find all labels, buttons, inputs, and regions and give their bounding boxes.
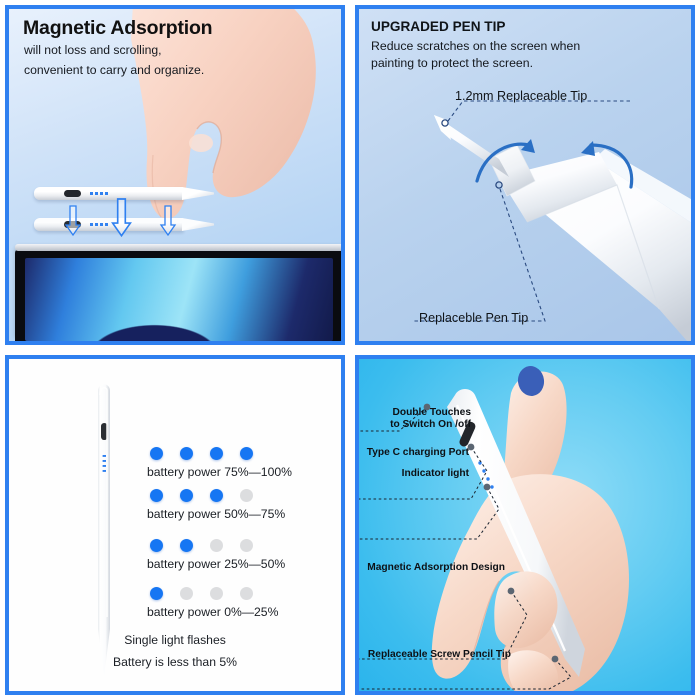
footer-line-2: Battery is less than 5% <box>9 655 341 669</box>
led-dot-group <box>147 587 278 600</box>
led-dot-icon <box>240 587 253 600</box>
led-dot-icon <box>150 447 163 460</box>
feature-label-double-touches-line-1: Double Touches <box>393 407 472 418</box>
led-dot-icon <box>210 489 223 502</box>
led-dot-icon <box>150 539 163 552</box>
led-dot-icon <box>180 447 193 460</box>
feature-label-type-c-port: Type C charging Port <box>359 447 469 459</box>
panel-magnetic-adsorption: Magnetic Adsorption will not loss and sc… <box>5 5 345 345</box>
panel-subtitle-line-2: painting to protect the screen. <box>371 56 533 70</box>
led-dot-icon <box>210 539 223 552</box>
led-dot-icon <box>180 489 193 502</box>
led-dot-icon <box>210 587 223 600</box>
battery-level-row: battery power 75%—100% <box>147 447 292 479</box>
led-dot-group <box>147 489 285 502</box>
panel-subtitle-line-2: convenient to carry and organize. <box>24 63 204 77</box>
battery-level-label: battery power 25%—50% <box>147 557 285 571</box>
feature-label-indicator-light: Indicator light <box>367 468 469 480</box>
down-arrow-icon <box>112 199 131 237</box>
stylus-pen-icon <box>91 377 117 677</box>
product-infographic: Magnetic Adsorption will not loss and sc… <box>0 0 700 700</box>
led-indicator-icon <box>90 192 108 195</box>
panel-title: Magnetic Adsorption <box>23 17 212 40</box>
led-dot-icon <box>240 489 253 502</box>
callout-replaceable-tip: 1.2mm Replaceable Tip <box>455 89 587 103</box>
footer-line-1: Single light flashes <box>9 633 341 647</box>
led-dot-icon <box>150 587 163 600</box>
panel-title: UPGRADED PEN TIP <box>371 19 505 34</box>
led-dot-icon <box>210 447 223 460</box>
led-dot-icon <box>180 539 193 552</box>
battery-level-row: battery power 25%—50% <box>147 539 285 571</box>
tablet-edge <box>15 244 343 251</box>
led-dot-icon <box>150 489 163 502</box>
down-arrow-icon <box>66 206 80 236</box>
usb-c-port-icon <box>64 190 81 197</box>
led-dot-icon <box>180 587 193 600</box>
stylus-pen-icon <box>34 187 184 200</box>
led-indicator-icon <box>90 223 108 226</box>
down-arrow-icon <box>161 206 175 236</box>
feature-label-magnetic-adsorption-design: Magnetic Adsorption Design <box>359 562 505 574</box>
battery-level-label: battery power 75%—100% <box>147 465 292 479</box>
battery-level-row: battery power 0%—25% <box>147 587 278 619</box>
battery-level-row: battery power 50%—75% <box>147 489 285 521</box>
feature-label-replaceable-screw-pencil-tip: Replaceable Screw Pencil Tip <box>359 649 511 661</box>
panel-battery-indicator: battery power 75%—100%battery power 50%—… <box>5 355 345 695</box>
led-dot-icon <box>240 539 253 552</box>
panel-pen-features: Double Touches to Switch On /off Type C … <box>355 355 695 695</box>
panel-upgraded-pen-tip: UPGRADED PEN TIP Reduce scratches on the… <box>355 5 695 345</box>
feature-label-double-touches-line-2: to Switch On /off <box>390 419 471 430</box>
led-dot-group <box>147 539 285 552</box>
tablet-icon <box>15 249 343 341</box>
led-dot-icon <box>240 447 253 460</box>
panel-subtitle-line-1: will not loss and scrolling, <box>24 43 162 57</box>
panel-subtitle-line-1: Reduce scratches on the screen when <box>371 39 580 53</box>
battery-level-label: battery power 0%—25% <box>147 605 278 619</box>
led-dot-group <box>147 447 292 460</box>
tablet-screen <box>25 258 333 341</box>
callout-replaceable-pen-tip: Replaceble Pen Tip <box>419 311 528 325</box>
battery-level-label: battery power 50%—75% <box>147 507 285 521</box>
